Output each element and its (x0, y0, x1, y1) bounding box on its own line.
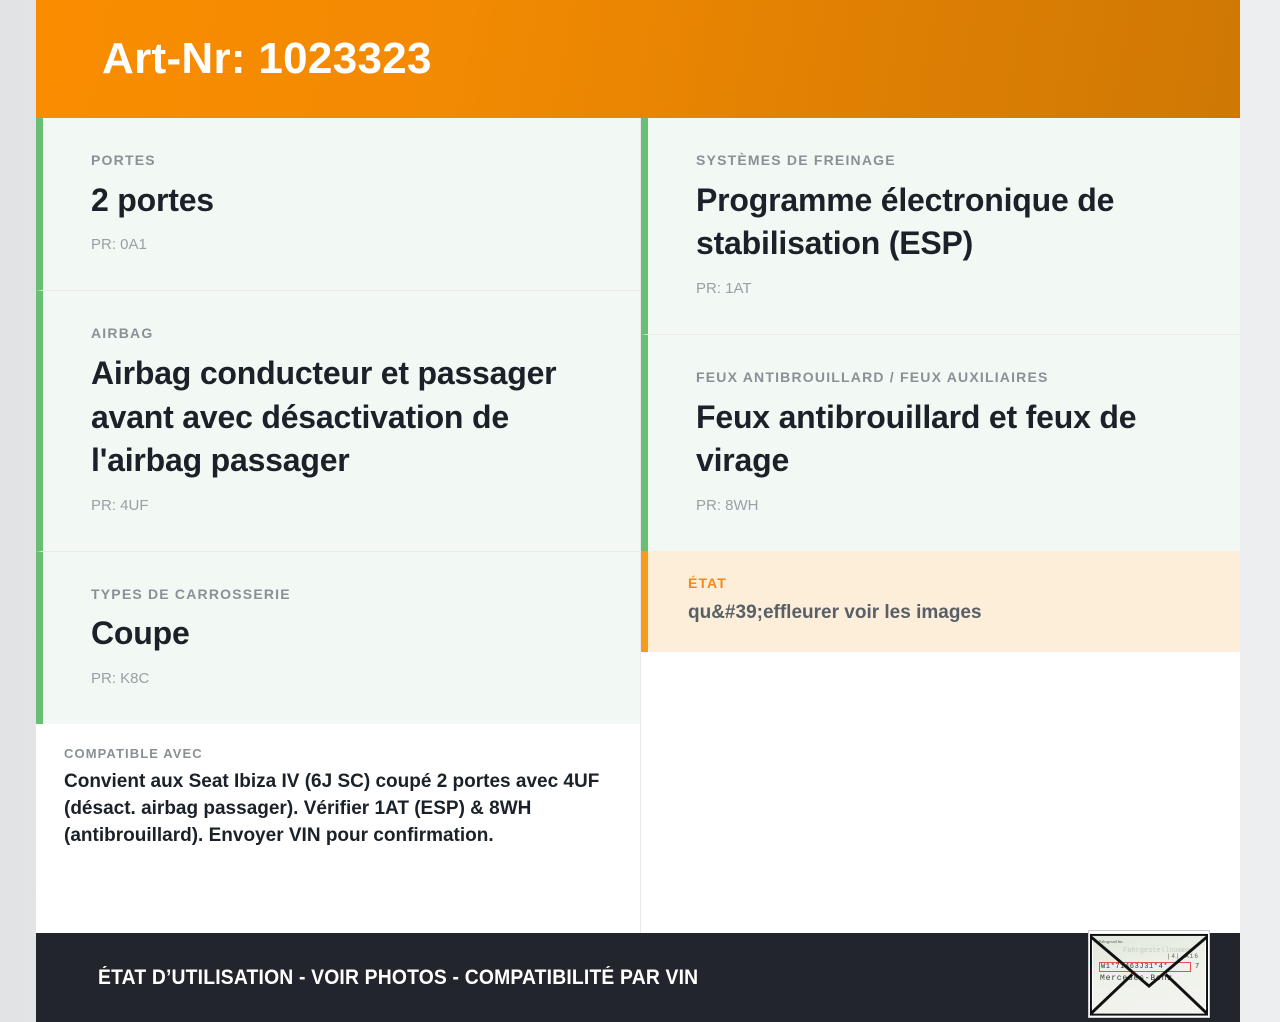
spec-label: Feux antibrouillard / Feux auxiliaires (696, 369, 1200, 386)
spec-value: Feux antibrouillard et feux de virage (696, 396, 1200, 483)
spec-card-feux[interactable]: Feux antibrouillard / Feux auxiliaires F… (641, 335, 1240, 551)
spec-pr-code: PR: K8C (91, 670, 600, 688)
page-root: Art-Nr: 1023323 Portes 2 portes PR: 0A1 … (0, 0, 1280, 1022)
compatibility-label: Compatible avec (64, 746, 600, 761)
spec-columns: Portes 2 portes PR: 0A1 Airbag Airbag co… (36, 118, 1240, 933)
state-card[interactable]: État qu&#39;effleurer voir les images (641, 551, 1240, 652)
envelope-overlay-icon (1089, 931, 1209, 1018)
spec-pr-code: PR: 1AT (696, 280, 1200, 298)
spec-value: Coupe (91, 612, 600, 656)
page-title: Art-Nr: 1023323 (102, 37, 432, 81)
vin-document-thumbnail[interactable]: Fahrgestellnr. Fahrgestellnummer |4| A16… (1088, 930, 1210, 1018)
left-column: Portes 2 portes PR: 0A1 Airbag Airbag co… (36, 118, 640, 933)
spec-card-carrosserie[interactable]: Types de carrosserie Coupe PR: K8C (36, 552, 640, 724)
spec-pr-code: PR: 8WH (696, 497, 1200, 515)
spec-card-freinage[interactable]: Systèmes de freinage Programme électroni… (641, 118, 1240, 335)
compatibility-text: Convient aux Seat Ibiza IV (6J SC) coupé… (64, 769, 600, 850)
spec-label: Types de carrosserie (91, 586, 600, 603)
spec-card-airbag[interactable]: Airbag Airbag conducteur et passager ava… (36, 291, 640, 551)
state-text: qu&#39;effleurer voir les images (688, 601, 1200, 626)
spec-card-portes[interactable]: Portes 2 portes PR: 0A1 (36, 118, 640, 291)
spec-label: Systèmes de freinage (696, 152, 1200, 169)
spec-pr-code: PR: 4UF (91, 497, 600, 515)
right-column: Systèmes de freinage Programme électroni… (640, 118, 1240, 933)
state-label: État (688, 575, 1200, 592)
spec-value: Programme électronique de stabilisation … (696, 179, 1200, 266)
spec-label: Airbag (91, 325, 600, 342)
footer-banner: ÉTAT D’UTILISATION - VOIR PHOTOS - COMPA… (36, 933, 1240, 1022)
spec-pr-code: PR: 0A1 (91, 236, 600, 254)
spec-value: Airbag conducteur et passager avant avec… (91, 352, 600, 483)
spec-value: 2 portes (91, 179, 600, 223)
spec-label: Portes (91, 152, 600, 169)
header-banner: Art-Nr: 1023323 (36, 0, 1240, 118)
compatibility-block: Compatible avec Convient aux Seat Ibiza … (36, 724, 640, 874)
footer-text: ÉTAT D’UTILISATION - VOIR PHOTOS - COMPA… (98, 966, 698, 990)
